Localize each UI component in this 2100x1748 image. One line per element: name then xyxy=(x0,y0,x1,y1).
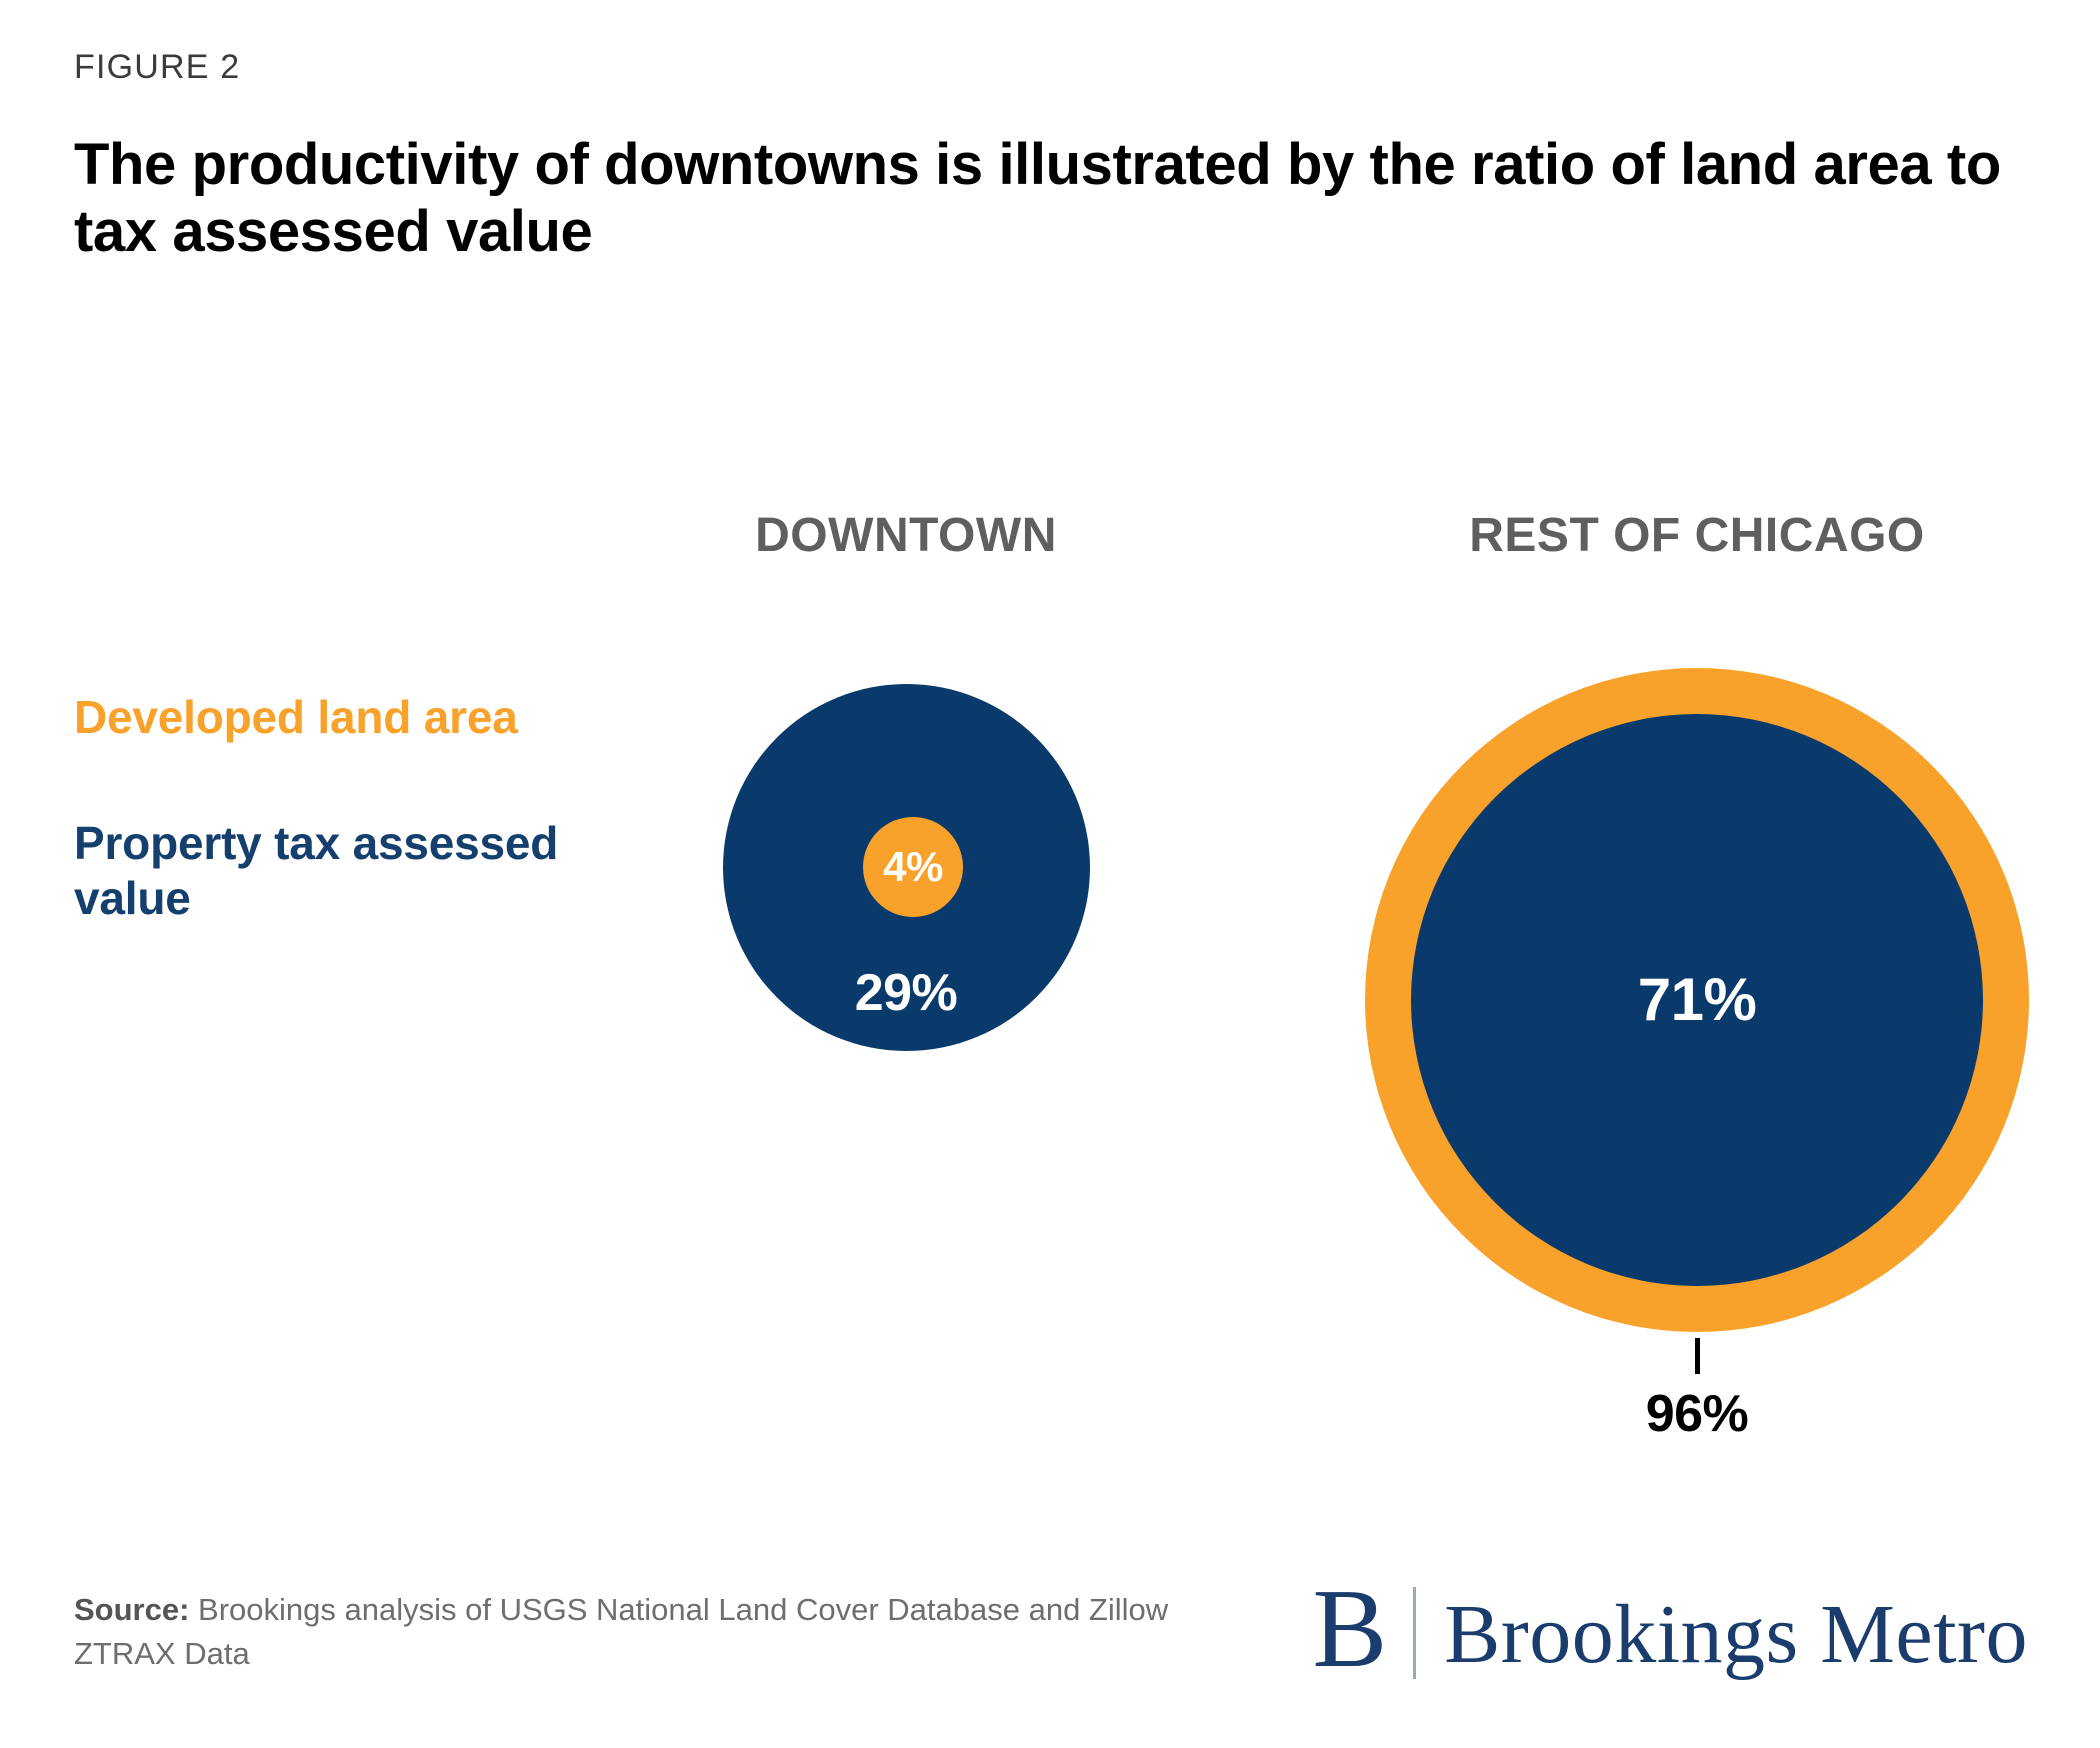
figure-canvas: FIGURE 2 The productivity of downtowns i… xyxy=(0,0,2100,1748)
legend: Developed land area Property tax assesse… xyxy=(74,690,594,925)
rest-of-chicago-tax-value-label: 71% xyxy=(1638,970,1757,1030)
brookings-metro-wordmark: Brookings Metro xyxy=(1444,1593,2028,1677)
downtown-developed-land-label: 4% xyxy=(883,846,943,888)
logo-divider xyxy=(1413,1587,1416,1679)
rest-of-chicago-leader-tick xyxy=(1695,1338,1700,1374)
legend-item-property-tax-assessed-value: Property tax assessed value xyxy=(74,816,594,925)
page-title: The productivity of downtowns is illustr… xyxy=(74,131,2004,266)
rest-of-chicago-tax-value-circle: 71% xyxy=(1411,714,1983,1286)
source-text: Brookings analysis of USGS National Land… xyxy=(74,1592,1168,1671)
downtown-tax-value-label: 29% xyxy=(855,963,958,1023)
brookings-metro-logo: B Brookings Metro xyxy=(1312,1578,2028,1688)
figure-number-label: FIGURE 2 xyxy=(74,48,240,87)
source-label: Source: xyxy=(74,1592,189,1627)
column-header-downtown: DOWNTOWN xyxy=(755,508,1057,563)
rest-of-chicago-developed-land-label: 96% xyxy=(1646,1384,1749,1444)
brookings-b-mark-icon: B xyxy=(1312,1579,1413,1680)
source-note: Source: Brookings analysis of USGS Natio… xyxy=(74,1588,1254,1676)
downtown-developed-land-circle: 4% xyxy=(863,817,963,917)
legend-item-developed-land-area: Developed land area xyxy=(74,690,594,744)
column-header-rest-of-chicago: REST OF CHICAGO xyxy=(1469,508,1925,563)
